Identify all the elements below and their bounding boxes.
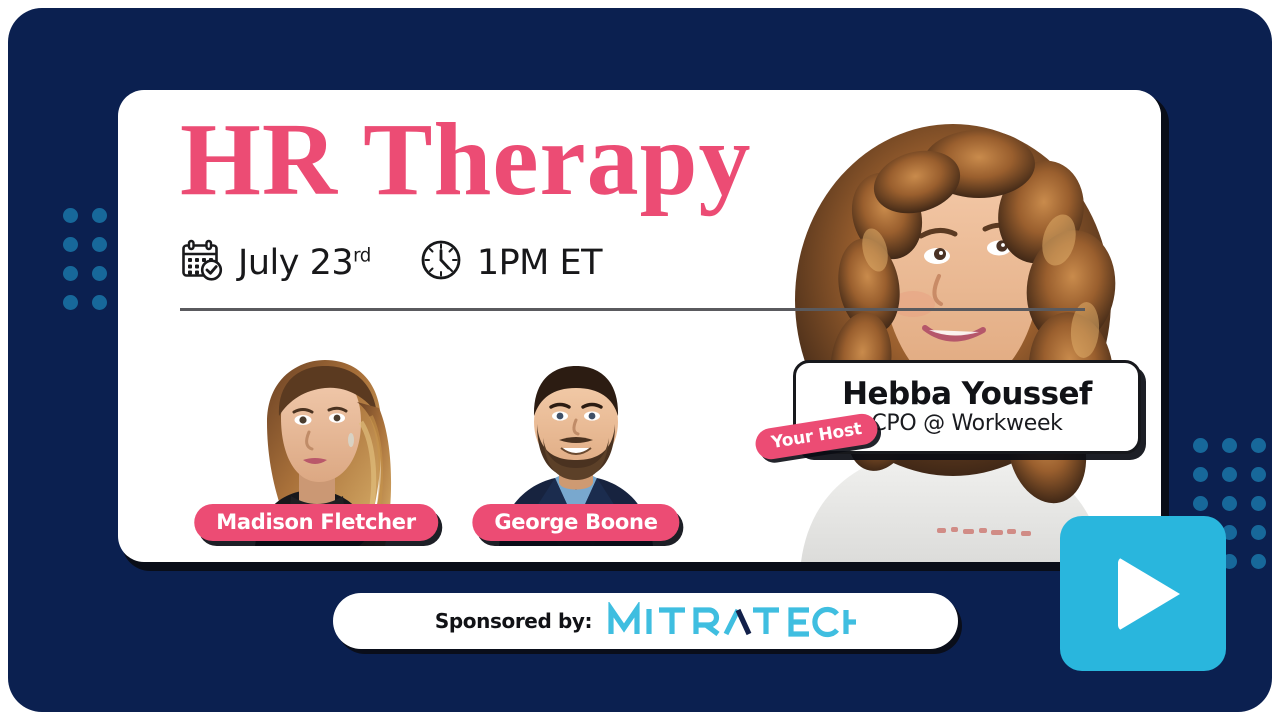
event-date-text: July 23rd: [238, 243, 371, 283]
calendar-check-icon: [180, 238, 224, 287]
dot: [1222, 496, 1237, 511]
poster-frame: HR Therapy: [8, 8, 1272, 712]
speaker-name-badge: George Boone: [472, 504, 679, 541]
dot: [1193, 467, 1208, 482]
section-divider: [180, 308, 1085, 311]
host-photo: [741, 90, 1161, 562]
speaker-madison-fletcher: Madison Fletcher: [233, 356, 399, 546]
dot: [92, 266, 107, 281]
event-meta-row: July 23rd: [180, 238, 602, 287]
speaker-name-badge: Madison Fletcher: [194, 504, 438, 541]
dot: [1251, 467, 1266, 482]
event-date: July 23rd: [180, 238, 371, 287]
dot: [63, 295, 78, 310]
dot: [1251, 554, 1266, 569]
play-button[interactable]: [1060, 516, 1226, 671]
event-time-text: 1PM ET: [477, 243, 602, 283]
mitratech-logo: [606, 602, 856, 640]
sponsor-bar: Sponsored by:: [333, 593, 958, 649]
dot: [1222, 467, 1237, 482]
host-name: Hebba Youssef: [842, 378, 1092, 411]
dot: [92, 295, 107, 310]
poster-root: HR Therapy: [0, 0, 1280, 720]
poster-title: HR Therapy: [180, 108, 752, 212]
dot: [1251, 525, 1266, 540]
main-content-card: HR Therapy: [118, 90, 1161, 562]
dot: [1193, 496, 1208, 511]
host-role: CPO @ Workweek: [871, 412, 1062, 436]
dot: [1251, 496, 1266, 511]
dot: [63, 266, 78, 281]
dot: [63, 237, 78, 252]
dot: [1251, 438, 1266, 453]
clock-icon: [419, 238, 463, 287]
dot: [1193, 438, 1208, 453]
event-time: 1PM ET: [419, 238, 602, 287]
dot: [63, 208, 78, 223]
speaker-george-boone: George Boone: [493, 356, 659, 546]
sponsor-label: Sponsored by:: [435, 609, 592, 633]
dot: [92, 237, 107, 252]
dot: [1222, 438, 1237, 453]
play-icon: [1118, 557, 1180, 631]
dot: [92, 208, 107, 223]
